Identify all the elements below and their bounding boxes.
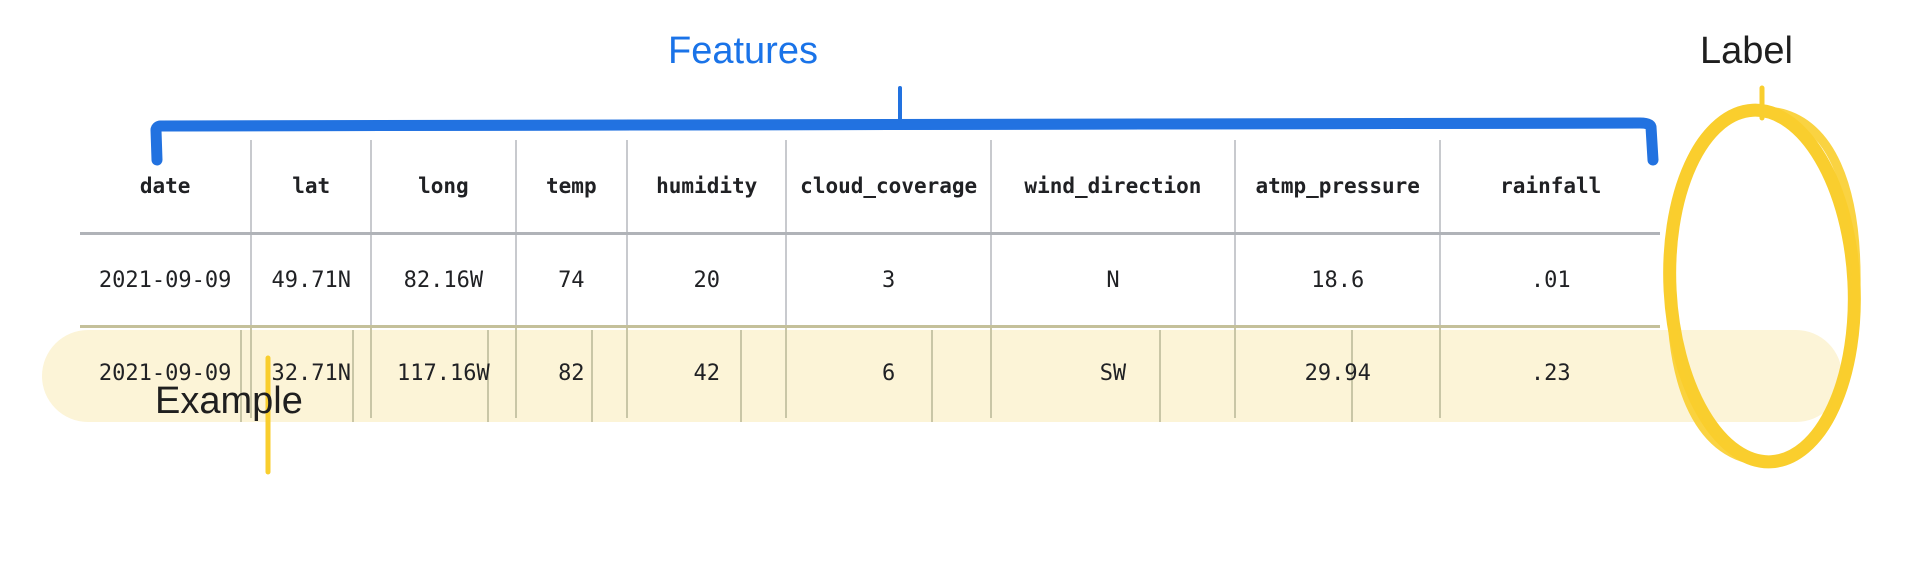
cell-atmp-pressure: 29.94 [1235, 327, 1441, 419]
cell-wind-direction: SW [991, 327, 1235, 419]
example-annotation-label: Example [155, 380, 303, 423]
cell-long: 117.16W [371, 327, 516, 419]
column-header-temp: temp [516, 140, 627, 234]
column-header-atmp-pressure: atmp_pressure [1235, 140, 1441, 234]
label-annotation-label: Label [1700, 30, 1793, 73]
cell-temp: 82 [516, 327, 627, 419]
features-annotation-label: Features [668, 30, 818, 73]
cell-long: 82.16W [371, 234, 516, 327]
cell-rainfall: .01 [1440, 234, 1660, 327]
cell-cloud-coverage: 3 [786, 234, 990, 327]
column-header-date: date [80, 140, 251, 234]
cell-atmp-pressure: 18.6 [1235, 234, 1441, 327]
diagram-canvas: date lat long temp humidity cloud_covera… [0, 0, 1920, 576]
table-row: 2021-09-09 32.71N 117.16W 82 42 6 SW 29.… [80, 327, 1660, 419]
dataset-table: date lat long temp humidity cloud_covera… [80, 140, 1660, 418]
dataset-table-wrapper: date lat long temp humidity cloud_covera… [0, 0, 1920, 576]
cell-rainfall: .23 [1440, 327, 1660, 419]
column-header-rainfall: rainfall [1440, 140, 1660, 234]
column-header-cloud-coverage: cloud_coverage [786, 140, 990, 234]
cell-humidity: 42 [627, 327, 786, 419]
column-header-wind-direction: wind_direction [991, 140, 1235, 234]
column-header-long: long [371, 140, 516, 234]
column-header-humidity: humidity [627, 140, 786, 234]
cell-temp: 74 [516, 234, 627, 327]
cell-humidity: 20 [627, 234, 786, 327]
cell-date: 2021-09-09 [80, 234, 251, 327]
cell-lat: 49.71N [251, 234, 371, 327]
table-row: 2021-09-09 49.71N 82.16W 74 20 3 N 18.6 … [80, 234, 1660, 327]
cell-wind-direction: N [991, 234, 1235, 327]
cell-cloud-coverage: 6 [786, 327, 990, 419]
column-header-lat: lat [251, 140, 371, 234]
table-header-row: date lat long temp humidity cloud_covera… [80, 140, 1660, 234]
